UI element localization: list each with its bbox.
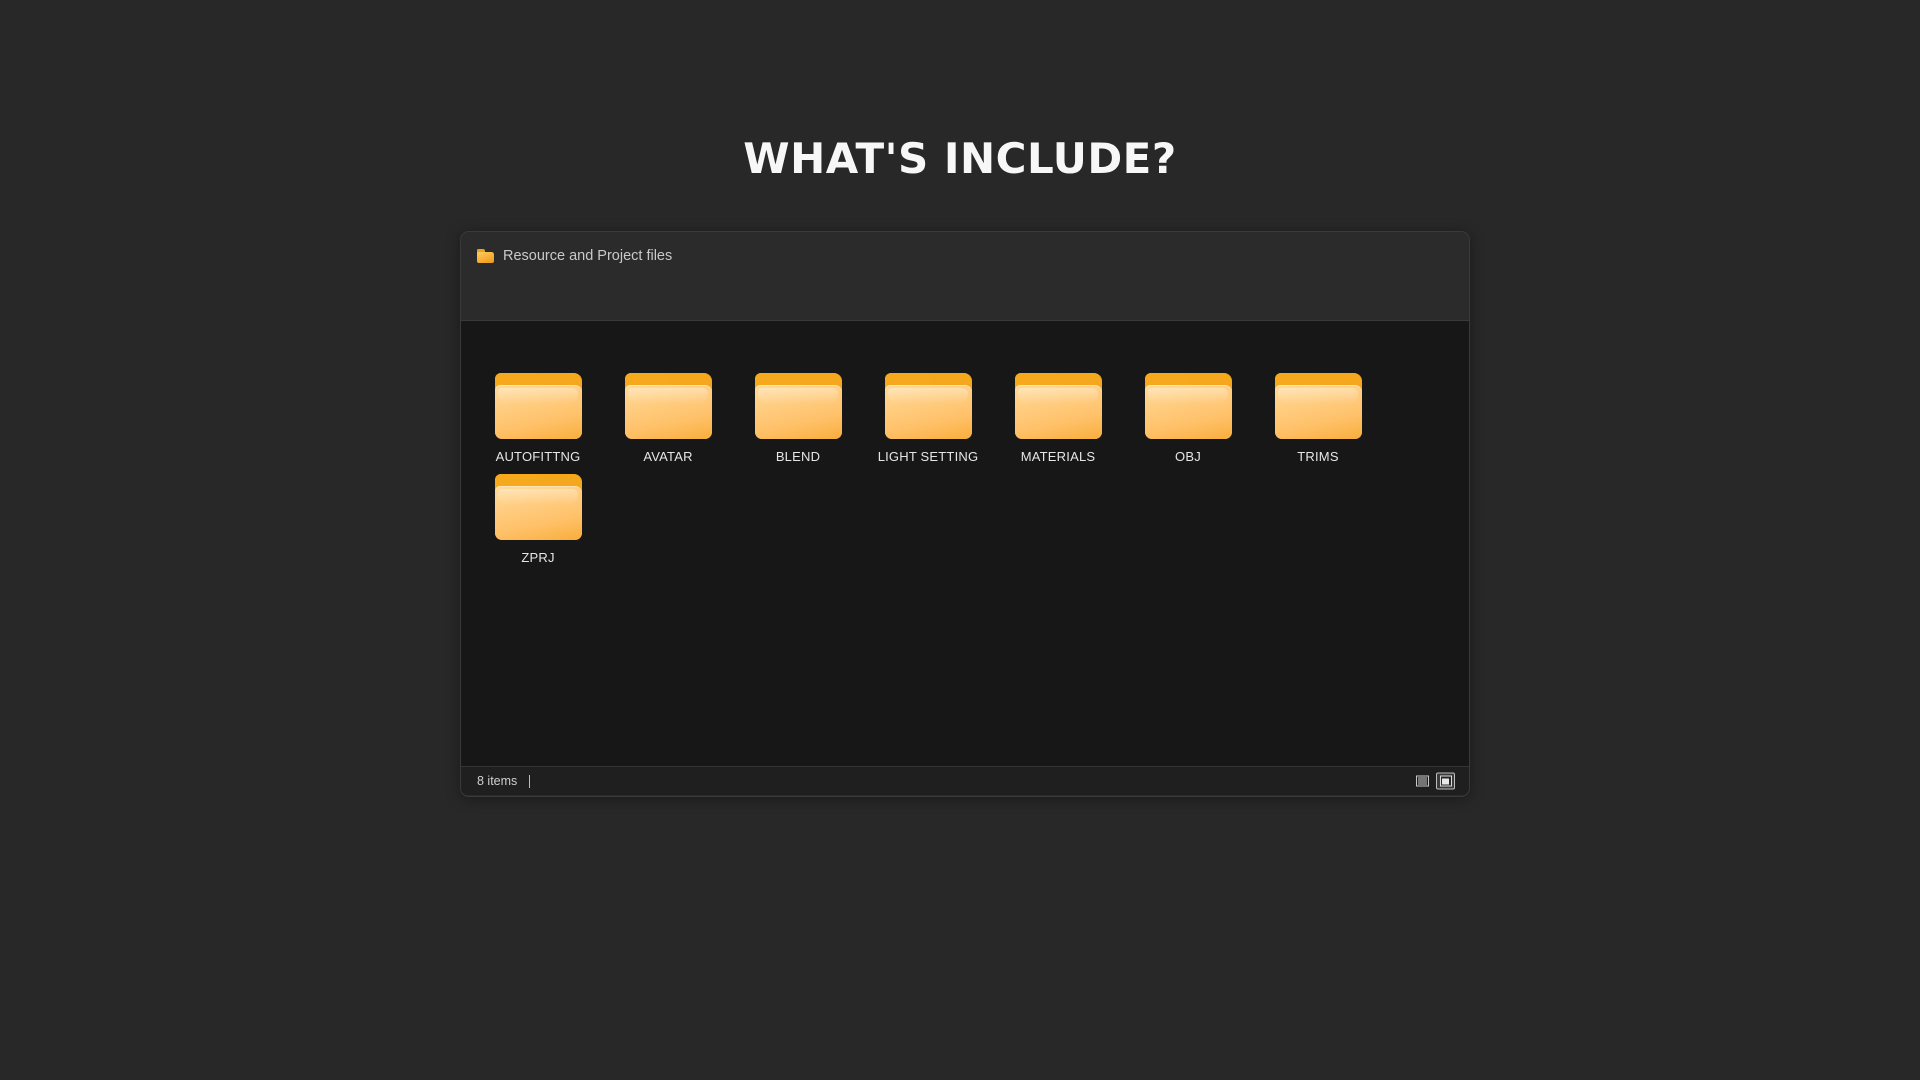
folder-icon	[1014, 373, 1103, 441]
list-item-label: AUTOFITTNG	[496, 449, 581, 464]
tab-strip: Resource and Project files	[461, 232, 1469, 274]
status-divider	[529, 775, 530, 788]
details-view-button[interactable]	[1413, 773, 1432, 790]
view-toggle-group	[1413, 773, 1455, 790]
list-item-label: BLEND	[776, 449, 820, 464]
list-item-label: TRIMS	[1297, 449, 1338, 464]
list-item[interactable]: BLEND	[733, 369, 863, 470]
folder-icon	[494, 373, 583, 441]
list-item-label: MATERIALS	[1021, 449, 1096, 464]
list-item[interactable]: LIGHT SETTING	[863, 369, 993, 470]
list-item[interactable]: AUTOFITTNG	[473, 369, 603, 470]
folder-icon	[494, 474, 583, 542]
list-item[interactable]: TRIMS	[1253, 369, 1383, 470]
tab-resource-and-project-files[interactable]: Resource and Project files	[475, 244, 682, 268]
folder-icon	[1144, 373, 1233, 441]
icon-grid: AUTOFITTNG AVATAR BLEND LIGHT SETTING	[473, 369, 1457, 571]
folder-icon	[1274, 373, 1363, 441]
large-icons-view-button[interactable]	[1436, 773, 1455, 790]
folder-icon	[754, 373, 843, 441]
tab-label: Resource and Project files	[503, 248, 672, 264]
list-item[interactable]: OBJ	[1123, 369, 1253, 470]
folder-icon	[884, 373, 973, 441]
item-count-label: 8 items	[477, 774, 517, 788]
file-explorer-window: Resource and Project files AUTOFITTNG AV…	[460, 231, 1470, 797]
content-area[interactable]: AUTOFITTNG AVATAR BLEND LIGHT SETTING	[461, 321, 1469, 767]
list-item-label: AVATAR	[643, 449, 692, 464]
list-item-label: OBJ	[1175, 449, 1201, 464]
window-header: Resource and Project files	[461, 232, 1469, 321]
page-title: WHAT'S INCLUDE?	[0, 138, 1920, 180]
status-bar-left: 8 items	[461, 774, 530, 788]
list-item[interactable]: MATERIALS	[993, 369, 1123, 470]
list-item[interactable]: AVATAR	[603, 369, 733, 470]
list-item[interactable]: ZPRJ	[473, 470, 603, 571]
list-item-label: ZPRJ	[521, 550, 554, 565]
large-icons-view-icon	[1440, 776, 1452, 787]
status-bar: 8 items	[461, 767, 1469, 795]
folder-icon	[624, 373, 713, 441]
list-item-label: LIGHT SETTING	[878, 449, 979, 464]
details-view-icon	[1416, 776, 1429, 787]
folder-icon	[477, 249, 494, 263]
